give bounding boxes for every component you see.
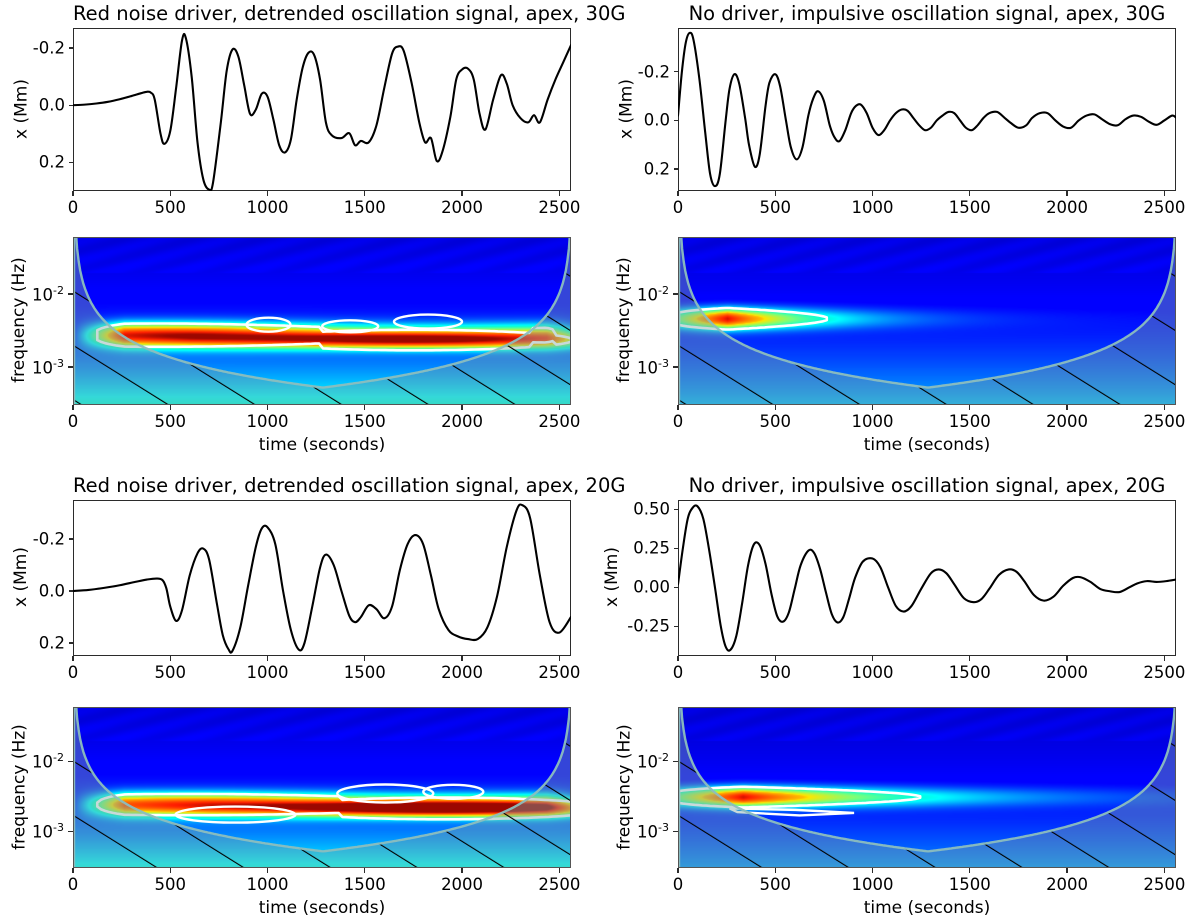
y-tick-label: 10-2: [637, 284, 669, 305]
x-tick-label: 0: [673, 198, 684, 217]
x-tick-label: 1500: [949, 412, 991, 431]
x-tick-label: 0: [68, 198, 79, 217]
y-tick-label: -0.2: [33, 530, 65, 549]
y-tick-base: 10: [637, 753, 658, 772]
y-tick: [673, 761, 679, 763]
x-tick-label: 1000: [247, 663, 289, 682]
x-tick-label: 1500: [344, 875, 386, 894]
x-tick: [677, 656, 678, 661]
cone-of-influence: [74, 238, 571, 405]
y-tick-label: 0.0: [644, 111, 670, 130]
x-tick-label: 0: [673, 412, 684, 431]
y-tick: [673, 831, 679, 833]
x-tick: [461, 656, 462, 661]
x-tick: [872, 405, 873, 410]
y-tick-base: 10: [32, 823, 53, 842]
y-tick-base: 10: [637, 823, 658, 842]
x-tick-label: 1000: [247, 198, 289, 217]
x-tick: [969, 191, 970, 196]
x-tick: [677, 405, 678, 410]
y-tick-label: 0.2: [39, 153, 65, 172]
y-tick-label: 0.50: [633, 500, 670, 519]
x-tick-label: 0: [673, 875, 684, 894]
y-tick-label: 10-3: [32, 357, 64, 378]
x-tick: [170, 868, 171, 873]
y-tick-label: 10-2: [637, 751, 669, 772]
x-tick-label: 0: [68, 875, 79, 894]
x-tick: [461, 868, 462, 873]
y-tick-base: 10: [637, 285, 658, 304]
x-tick-label: 1000: [852, 875, 894, 894]
y-tick-label: 10-3: [637, 821, 669, 842]
x-tick-label: 1500: [949, 663, 991, 682]
x-axis-label: time (seconds): [73, 898, 571, 918]
x-tick: [170, 656, 171, 661]
x-tick-label: 1000: [247, 412, 289, 431]
x-tick-label: 1500: [949, 198, 991, 217]
x-tick: [559, 191, 560, 196]
y-tick-label: 0.0: [39, 96, 65, 115]
x-tick-label: 500: [760, 412, 792, 431]
y-tick-label: 0.2: [39, 634, 65, 653]
y-tick: [673, 366, 679, 368]
x-tick-label: 1500: [344, 663, 386, 682]
wavelet-figure: Red noise driver, detrended oscillation …: [0, 0, 1200, 916]
x-tick-label: 2500: [1143, 198, 1185, 217]
y-tick-base: 10: [32, 358, 53, 377]
x-tick: [559, 656, 560, 661]
x-axis-label: time (seconds): [678, 898, 1176, 918]
x-tick: [364, 656, 365, 661]
y-tick-label: 0.25: [633, 539, 670, 558]
y-tick-label: 0.0: [39, 582, 65, 601]
x-tick: [461, 405, 462, 410]
x-tick: [72, 191, 73, 196]
x-tick-label: 2500: [538, 198, 580, 217]
axes-spec-top-left: [73, 237, 571, 405]
y-axis-label: x (Mm): [11, 7, 31, 210]
x-tick: [364, 191, 365, 196]
x-tick-label: 500: [155, 198, 187, 217]
x-tick: [559, 405, 560, 410]
x-tick-label: 1000: [852, 412, 894, 431]
x-tick-label: 2000: [441, 412, 483, 431]
x-tick: [872, 656, 873, 661]
y-tick-label: 0.2: [644, 160, 670, 179]
significance-contour: [679, 708, 1176, 868]
x-tick: [559, 868, 560, 873]
y-axis-label: frequency (Hz): [614, 676, 634, 897]
x-tick: [775, 656, 776, 661]
x-tick: [1066, 868, 1067, 873]
x-tick-label: 2500: [538, 412, 580, 431]
x-tick: [267, 656, 268, 661]
x-tick: [267, 405, 268, 410]
x-tick-label: 2000: [441, 198, 483, 217]
x-tick: [364, 868, 365, 873]
x-tick-label: 1000: [852, 663, 894, 682]
y-axis-label: x (Mm): [616, 7, 636, 210]
panel-title: Red noise driver, detrended oscillation …: [73, 2, 571, 25]
x-tick: [1164, 191, 1165, 196]
cone-of-influence: [74, 708, 571, 868]
y-tick-label: 10-3: [32, 821, 64, 842]
x-tick: [267, 191, 268, 196]
timeseries-curve: [678, 500, 1176, 656]
x-tick: [72, 656, 73, 661]
significance-contour: [679, 238, 1176, 405]
y-axis-label: x (Mm): [602, 479, 622, 675]
x-tick-label: 1000: [852, 198, 894, 217]
panel-title: Red noise driver, detrended oscillation …: [73, 474, 571, 497]
x-tick-label: 500: [760, 663, 792, 682]
x-tick: [1164, 656, 1165, 661]
x-tick: [775, 868, 776, 873]
x-tick-label: 0: [68, 412, 79, 431]
y-tick-label: -0.2: [638, 62, 670, 81]
x-tick-label: 500: [760, 875, 792, 894]
x-tick: [1066, 405, 1067, 410]
y-tick-base: 10: [637, 358, 658, 377]
x-tick-label: 1000: [247, 875, 289, 894]
y-tick-label: 10-2: [32, 284, 64, 305]
x-tick-label: 1500: [344, 412, 386, 431]
y-tick: [673, 293, 679, 295]
x-tick: [170, 191, 171, 196]
significance-contour: [74, 708, 571, 868]
x-tick-label: 0: [673, 663, 684, 682]
y-tick-label: 10-3: [637, 357, 669, 378]
x-tick-label: 500: [155, 663, 187, 682]
x-tick: [364, 405, 365, 410]
axes-spec-bottom-right: [678, 707, 1176, 868]
timeseries-curve: [678, 28, 1176, 191]
y-tick-exponent: -3: [53, 357, 64, 370]
x-tick: [677, 868, 678, 873]
x-tick: [969, 868, 970, 873]
cone-of-influence: [679, 238, 1176, 405]
x-tick: [775, 191, 776, 196]
x-tick-label: 2500: [538, 663, 580, 682]
x-tick: [969, 656, 970, 661]
y-tick-label: 0.00: [633, 578, 670, 597]
x-tick: [775, 405, 776, 410]
y-tick-base: 10: [32, 753, 53, 772]
x-tick: [1164, 405, 1165, 410]
x-tick-label: 500: [155, 412, 187, 431]
y-tick: [68, 761, 74, 763]
x-tick: [872, 191, 873, 196]
x-tick: [677, 191, 678, 196]
y-tick-exponent: -2: [658, 751, 669, 764]
x-tick: [170, 405, 171, 410]
x-tick-label: 2000: [1046, 198, 1088, 217]
y-tick: [68, 293, 74, 295]
x-tick-label: 2500: [1143, 663, 1185, 682]
y-tick-label: -0.2: [33, 39, 65, 58]
y-axis-label: frequency (Hz): [9, 676, 29, 897]
y-tick-exponent: -2: [658, 284, 669, 297]
x-tick: [872, 868, 873, 873]
y-axis-label: frequency (Hz): [614, 206, 634, 434]
x-tick-label: 0: [68, 663, 79, 682]
panel-title: No driver, impulsive oscillation signal,…: [678, 2, 1176, 25]
x-tick-label: 2000: [1046, 412, 1088, 431]
x-tick-label: 2500: [1143, 412, 1185, 431]
x-tick-label: 2000: [441, 663, 483, 682]
axes-spec-top-right: [678, 237, 1176, 405]
x-tick-label: 2000: [1046, 663, 1088, 682]
timeseries-curve: [73, 500, 571, 656]
x-tick: [1164, 868, 1165, 873]
x-tick-label: 2000: [1046, 875, 1088, 894]
y-tick-exponent: -3: [53, 821, 64, 834]
x-tick-label: 2500: [538, 875, 580, 894]
significance-contour: [74, 238, 571, 405]
y-tick-exponent: -2: [53, 284, 64, 297]
y-tick: [68, 366, 74, 368]
timeseries-curve: [73, 28, 571, 191]
panel-title: No driver, impulsive oscillation signal,…: [678, 474, 1176, 497]
x-tick-label: 500: [760, 198, 792, 217]
y-tick-exponent: -2: [53, 751, 64, 764]
axes-spec-bottom-left: [73, 707, 571, 868]
x-axis-label: time (seconds): [73, 435, 571, 455]
y-tick-exponent: -3: [658, 821, 669, 834]
x-tick-label: 500: [155, 875, 187, 894]
y-axis-label: x (Mm): [11, 479, 31, 675]
x-tick-label: 2000: [441, 875, 483, 894]
x-tick: [969, 405, 970, 410]
x-tick: [72, 405, 73, 410]
x-tick: [72, 868, 73, 873]
x-tick: [1066, 656, 1067, 661]
x-tick-label: 1500: [344, 198, 386, 217]
y-tick-label: 10-2: [32, 751, 64, 772]
x-tick: [461, 191, 462, 196]
x-tick: [267, 868, 268, 873]
x-tick-label: 2500: [1143, 875, 1185, 894]
y-axis-label: frequency (Hz): [9, 206, 29, 434]
y-tick-label: -0.25: [627, 617, 670, 636]
y-tick-exponent: -3: [658, 357, 669, 370]
y-tick: [68, 831, 74, 833]
x-tick: [1066, 191, 1067, 196]
y-tick-base: 10: [32, 285, 53, 304]
x-axis-label: time (seconds): [678, 435, 1176, 455]
x-tick-label: 1500: [949, 875, 991, 894]
